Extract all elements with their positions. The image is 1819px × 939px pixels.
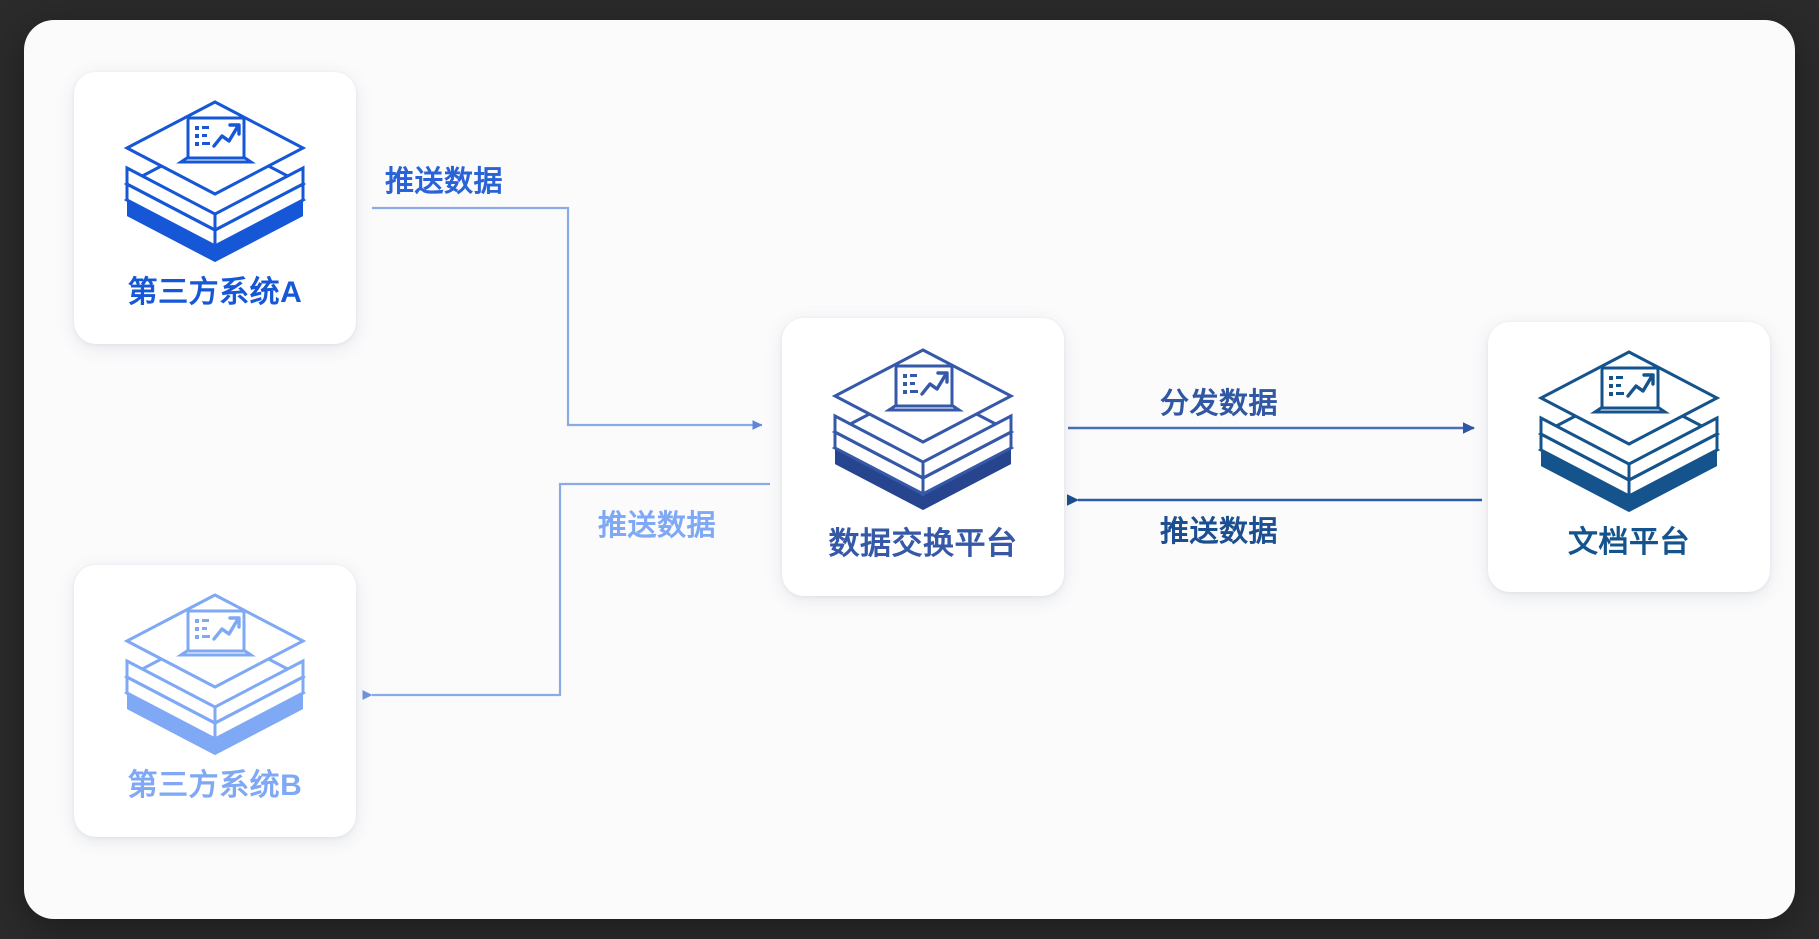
node-third-party-a[interactable]: 第三方系统A [74,72,356,344]
diagram-canvas: 推送数据 推送数据 分发数据 推送数据 [0,0,1819,939]
isometric-stack-chart-icon [117,98,313,264]
node-label: 数据交换平台 [829,528,1018,559]
node-icon-wrap [74,591,356,757]
edge-label-hub-to-doc: 分发数据 [1160,390,1278,419]
node-icon-wrap [782,346,1064,512]
edge-label-hub-to-b: 推送数据 [598,512,716,541]
node-icon-wrap [74,98,356,264]
edge-label-a-to-hub: 推送数据 [385,168,503,197]
node-icon-wrap [1488,348,1770,514]
isometric-stack-chart-icon [1531,348,1727,514]
node-third-party-b[interactable]: 第三方系统B [74,565,356,837]
node-document-platform[interactable]: 文档平台 [1488,322,1770,592]
node-label: 文档平台 [1568,528,1690,558]
node-data-exchange-platform[interactable]: 数据交换平台 [782,318,1064,596]
node-label: 第三方系统A [128,278,303,308]
isometric-stack-chart-icon [117,591,313,757]
isometric-stack-chart-icon [825,346,1021,512]
edge-label-doc-to-hub: 推送数据 [1160,518,1278,547]
node-label: 第三方系统B [128,771,303,801]
